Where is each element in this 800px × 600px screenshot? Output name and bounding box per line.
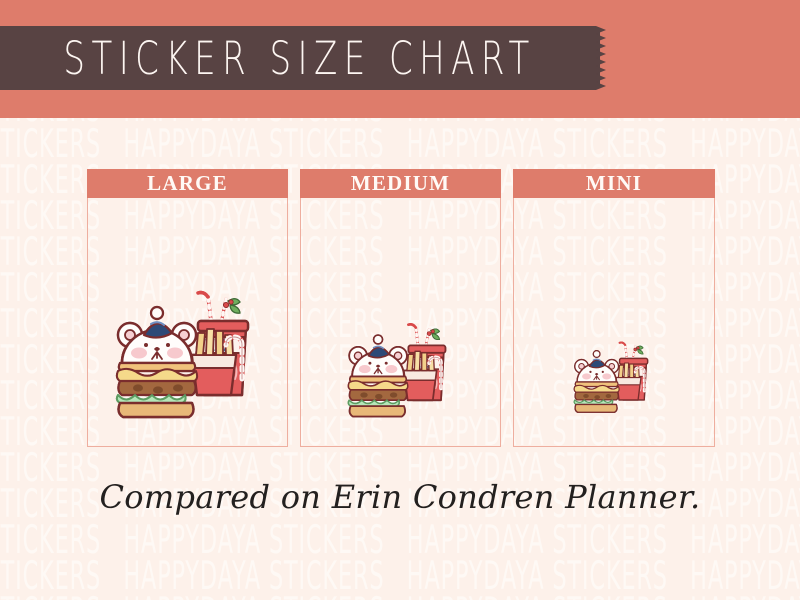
watermark-row: HAPPYDAYA STICKERSHAPPYDAYA STICKERSHAPP…: [0, 123, 614, 168]
size-box-medium[interactable]: MEDIUM: [300, 169, 501, 447]
sticker-mini: [569, 337, 659, 424]
size-label-large: LARGE: [147, 171, 228, 196]
caption-text: Compared on Erin Condren Planner.: [0, 478, 800, 516]
sticker-holder-mini: [514, 338, 714, 424]
size-box-header-mini: MINI: [513, 169, 715, 198]
chart-canvas: HAPPYDAYA STICKERSHAPPYDAYA STICKERSHAPP…: [0, 118, 800, 600]
watermark-row: HAPPYDAYA STICKERSHAPPYDAYA STICKERSHAPP…: [0, 591, 614, 600]
size-box-mini[interactable]: MINI: [513, 169, 715, 447]
size-box-large[interactable]: LARGE: [87, 169, 288, 447]
size-box-body-medium: [300, 198, 501, 447]
sticker-medium: [341, 317, 459, 432]
bear-burger-fries-drink-sticker-art: [108, 283, 268, 433]
page-title: STICKER SIZE CHART: [24, 19, 567, 97]
size-box-header-large: LARGE: [87, 169, 288, 198]
size-box-body-large: [87, 198, 288, 447]
watermark-row: HAPPYDAYA STICKERSHAPPYDAYA STICKERSHAPP…: [0, 519, 614, 564]
size-box-header-medium: MEDIUM: [300, 169, 501, 198]
bear-burger-fries-drink-sticker-art: [341, 317, 459, 428]
ribbon-zigzag-edge: [596, 26, 612, 90]
size-box-body-mini: [513, 198, 715, 447]
watermark-row: HAPPYDAYA STICKERSHAPPYDAYA STICKERSHAPP…: [0, 118, 614, 132]
watermark-row: HAPPYDAYA STICKERSHAPPYDAYA STICKERSHAPP…: [0, 555, 614, 600]
bear-burger-fries-drink-sticker-art: [569, 337, 659, 421]
size-label-medium: MEDIUM: [351, 171, 450, 196]
sticker-holder-medium: [301, 320, 500, 432]
header-band: STICKER SIZE CHART: [0, 0, 800, 118]
sticker-holder-large: [88, 288, 287, 438]
sticker-large: [108, 283, 268, 438]
size-label-mini: MINI: [586, 171, 642, 196]
title-ribbon: STICKER SIZE CHART: [0, 26, 600, 90]
